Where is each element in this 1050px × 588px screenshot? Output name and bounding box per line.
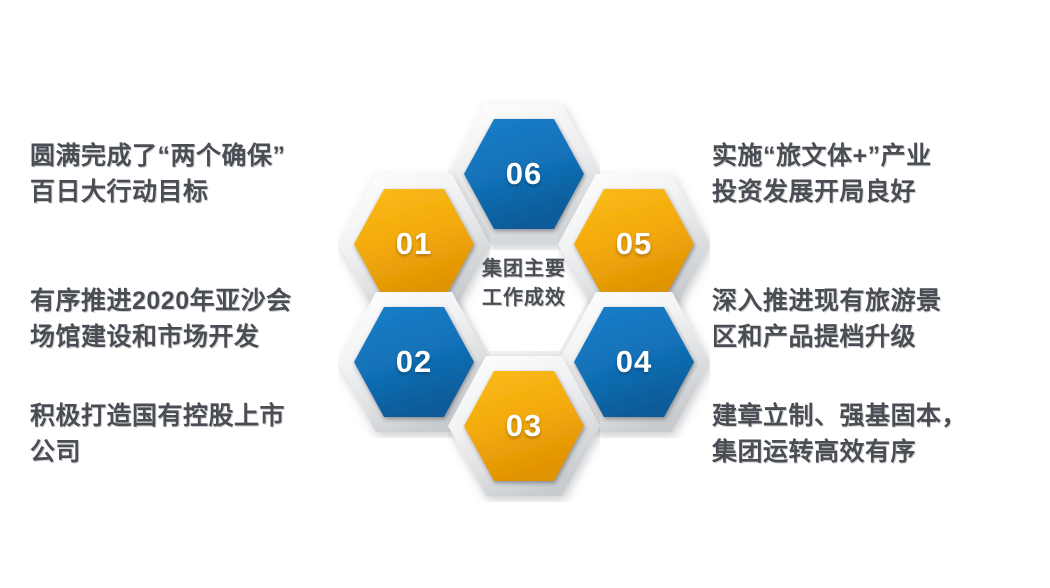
infographic-canvas: 圆满完成了“两个确保” 百日大行动目标 有序推进2020年亚沙会 场馆建设和市场… bbox=[0, 0, 1050, 588]
callout-text-right-1: 实施“旅文体+”产业 投资发展开局良好 bbox=[712, 138, 1050, 210]
callout-text-right-3: 建章立制、强基固本， 集团运转高效有序 bbox=[712, 398, 1050, 470]
callout-text-right-2: 深入推进现有旅游景 区和产品提档升级 bbox=[712, 283, 1050, 355]
hexagon-03[interactable]: 03 bbox=[448, 350, 600, 502]
hexagon-cluster: 集团主要 工作成效 06 01 05 bbox=[318, 78, 730, 490]
